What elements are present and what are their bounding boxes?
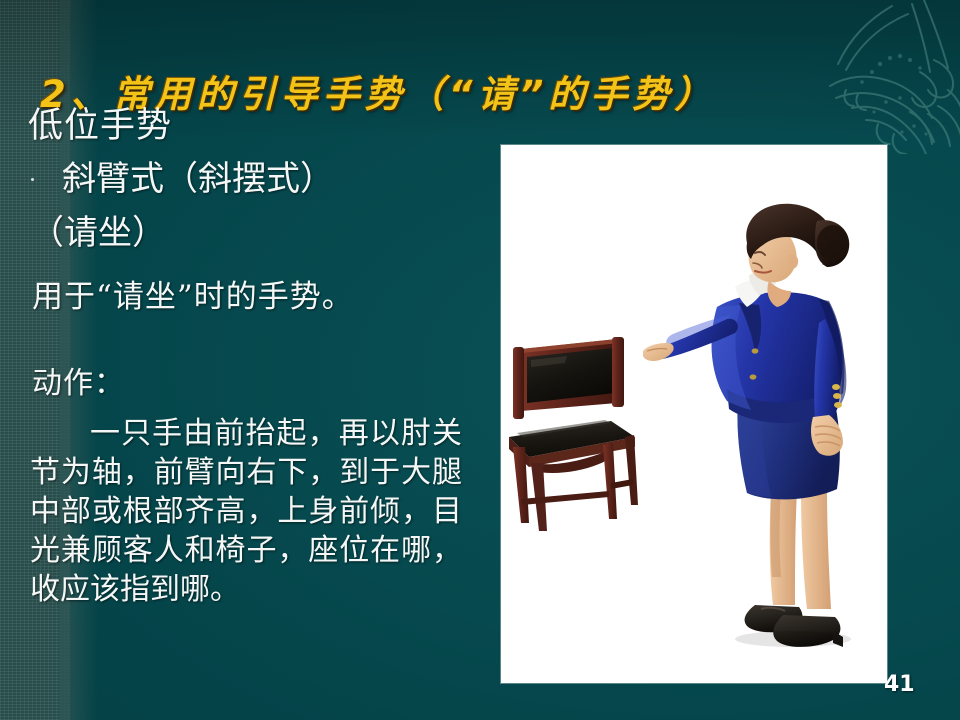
photo-stage [501,145,887,683]
bullet-item-label: 斜臂式（斜摆式） [62,154,334,204]
page-number: 41 [884,672,915,697]
bullet-item-subline: （请坐） [30,208,495,258]
wooden-chair-illustration [507,333,657,533]
woman-gesture-illustration [643,191,887,661]
usage-text: 用于“请坐”时的手势。 [32,274,495,320]
photo-panel [501,145,887,683]
action-label: 动作： [32,364,495,404]
slide-canvas: 2、常用的引导手势（“请”的手势） 低位手势 斜臂式（斜摆式） （请坐） 用于“… [0,0,960,720]
action-description-paragraph: 一只手由前抬起，再以肘关节为轴，前臂向右下，到于大腿中部或根部齐高，上身前倾，目… [30,414,462,609]
section-heading: 低位手势 [28,104,495,148]
bullet-dot-icon [31,178,34,181]
bullet-list-item: 斜臂式（斜摆式） [28,154,495,206]
content-text-column: 低位手势 斜臂式（斜摆式） （请坐） 用于“请坐”时的手势。 动作： 一只手由前… [0,104,495,609]
